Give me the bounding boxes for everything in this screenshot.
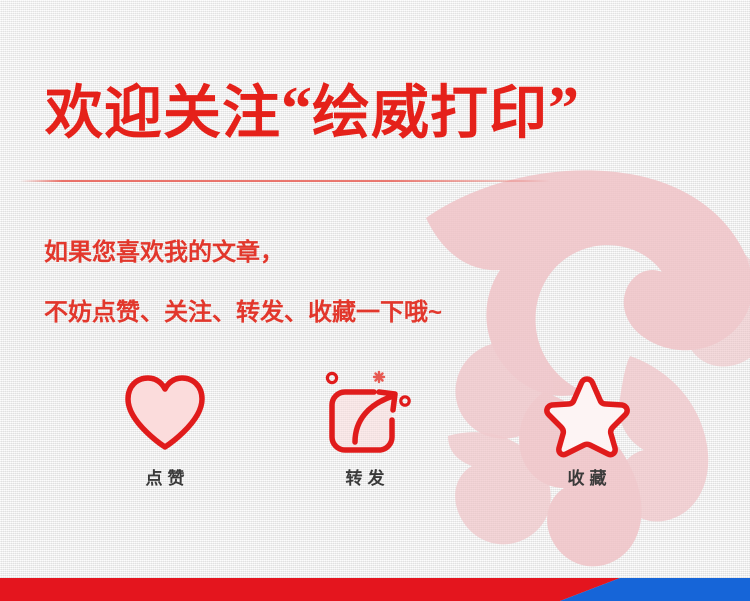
title-prefix: 欢迎关注	[45, 81, 281, 146]
action-icon-row: 点赞 转发	[0, 365, 750, 505]
action-favorite[interactable]: 收藏	[512, 365, 662, 489]
title-brand: 绘威打印	[312, 81, 548, 146]
pink-brush-mark-watermark	[330, 140, 750, 570]
bottom-accent-bar	[0, 578, 750, 601]
action-share-label: 转发	[290, 464, 440, 489]
promo-banner: 欢迎关注“绘威打印” 如果您喜欢我的文章， 不妨点赞、关注、转发、收藏一下哦~ …	[0, 0, 750, 601]
subtitle-block: 如果您喜欢我的文章， 不妨点赞、关注、转发、收藏一下哦~	[44, 232, 442, 327]
share-arrow-icon	[290, 365, 440, 461]
heart-icon	[90, 365, 240, 461]
action-like[interactable]: 点赞	[90, 365, 240, 489]
bottom-bar-red-segment	[0, 578, 620, 601]
subtitle-line-1: 如果您喜欢我的文章，	[44, 232, 442, 267]
quote-close: ”	[548, 75, 579, 143]
action-like-label: 点赞	[90, 464, 240, 489]
page-title: 欢迎关注“绘威打印”	[45, 78, 579, 145]
title-divider	[20, 180, 550, 182]
star-icon	[512, 365, 662, 461]
action-share[interactable]: 转发	[290, 365, 440, 489]
quote-open: “	[281, 75, 312, 143]
action-favorite-label: 收藏	[512, 464, 662, 489]
subtitle-line-2: 不妨点赞、关注、转发、收藏一下哦~	[44, 292, 442, 327]
